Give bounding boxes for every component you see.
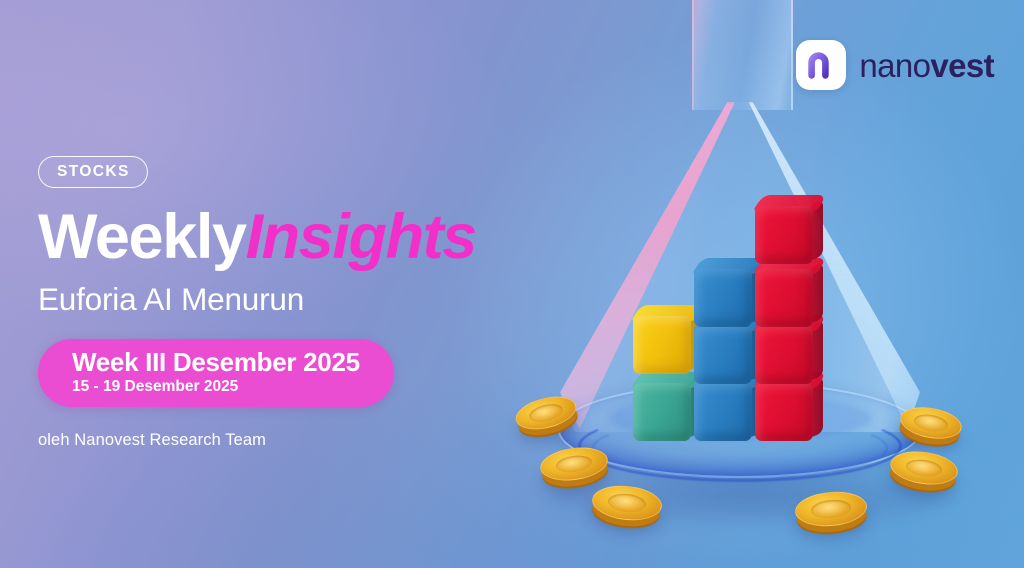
cube-side-face <box>689 377 701 438</box>
cube-red-1 <box>755 383 813 441</box>
flask-cone-body <box>560 102 920 432</box>
flask-base <box>558 382 922 478</box>
headline-regular: Weekly <box>38 202 246 272</box>
page-title: WeeklyInsights <box>38 206 508 269</box>
flask-base-ring-outer <box>578 410 902 482</box>
cube-top-face <box>692 258 767 274</box>
gold-coin-2 <box>538 443 610 484</box>
cube-top-face <box>753 372 828 388</box>
cube-side-face <box>811 320 823 381</box>
headline-italic: Insights <box>246 202 476 272</box>
cube-front-face <box>694 326 752 384</box>
cube-front-face <box>755 206 813 264</box>
cube-blue-2 <box>694 326 752 384</box>
cube-blue-3 <box>694 269 752 327</box>
cube-blue-1 <box>694 383 752 441</box>
cube-front-face <box>633 316 691 374</box>
cube-front-face <box>694 383 752 441</box>
gold-coin-3 <box>590 482 663 523</box>
cube-side-face <box>750 377 762 438</box>
cube-front-face <box>755 269 813 327</box>
flask-ground-shadow <box>548 470 948 524</box>
gold-coin-5 <box>898 403 964 443</box>
date-badge-range: 15 - 19 Desember 2025 <box>72 378 360 397</box>
cube-teal-1 <box>633 383 691 441</box>
date-badge[interactable]: Week III Desember 2025 15 - 19 Desember … <box>38 339 394 408</box>
cube-top-face <box>692 315 767 331</box>
gold-coin-1 <box>512 391 579 435</box>
gold-coin-6 <box>888 447 960 488</box>
cube-side-face <box>811 263 823 324</box>
cube-side-face <box>811 377 823 438</box>
cube-top-face <box>753 195 828 211</box>
cube-side-face <box>750 263 762 324</box>
date-badge-title: Week III Desember 2025 <box>72 348 360 377</box>
weekly-insights-banner: STOCKS WeeklyInsights Euforia AI Menurun… <box>0 0 1024 568</box>
byline: oleh Nanovest Research Team <box>38 431 508 450</box>
logo-n-icon <box>806 50 836 80</box>
cube-top-face <box>692 372 767 388</box>
wordmark-nano: nano <box>859 47 930 84</box>
cube-side-face <box>811 200 823 261</box>
cube-red-3 <box>755 269 813 327</box>
banner-text-block: STOCKS WeeklyInsights Euforia AI Menurun… <box>38 156 508 450</box>
gold-coin-4 <box>794 489 869 529</box>
cube-front-face <box>633 383 691 441</box>
cube-front-face <box>755 326 813 384</box>
nanovest-wordmark: nanovest <box>859 49 994 82</box>
wordmark-vest: vest <box>930 47 994 84</box>
subtitle: Euforia AI Menurun <box>38 281 508 317</box>
cube-side-face <box>750 320 762 381</box>
cube-top-face <box>753 315 828 331</box>
cube-red-4 <box>755 206 813 264</box>
cube-top-face <box>631 305 706 321</box>
cube-top-face <box>753 258 828 274</box>
cube-front-face <box>755 383 813 441</box>
nanovest-logo-mark <box>796 40 846 90</box>
category-badge[interactable]: STOCKS <box>38 156 148 188</box>
cube-yellow-1 <box>633 316 691 374</box>
flask-inner-floor <box>610 394 872 442</box>
nanovest-logo[interactable]: nanovest <box>796 40 994 90</box>
flask-rim-highlight-left <box>560 102 920 432</box>
cube-front-face <box>694 269 752 327</box>
cube-red-2 <box>755 326 813 384</box>
flask-rim-highlight-right <box>560 102 920 432</box>
cube-side-face <box>689 310 701 371</box>
flask-neck <box>692 0 793 110</box>
cube-top-face <box>631 372 706 388</box>
flask-base-ring-inner <box>592 418 888 478</box>
